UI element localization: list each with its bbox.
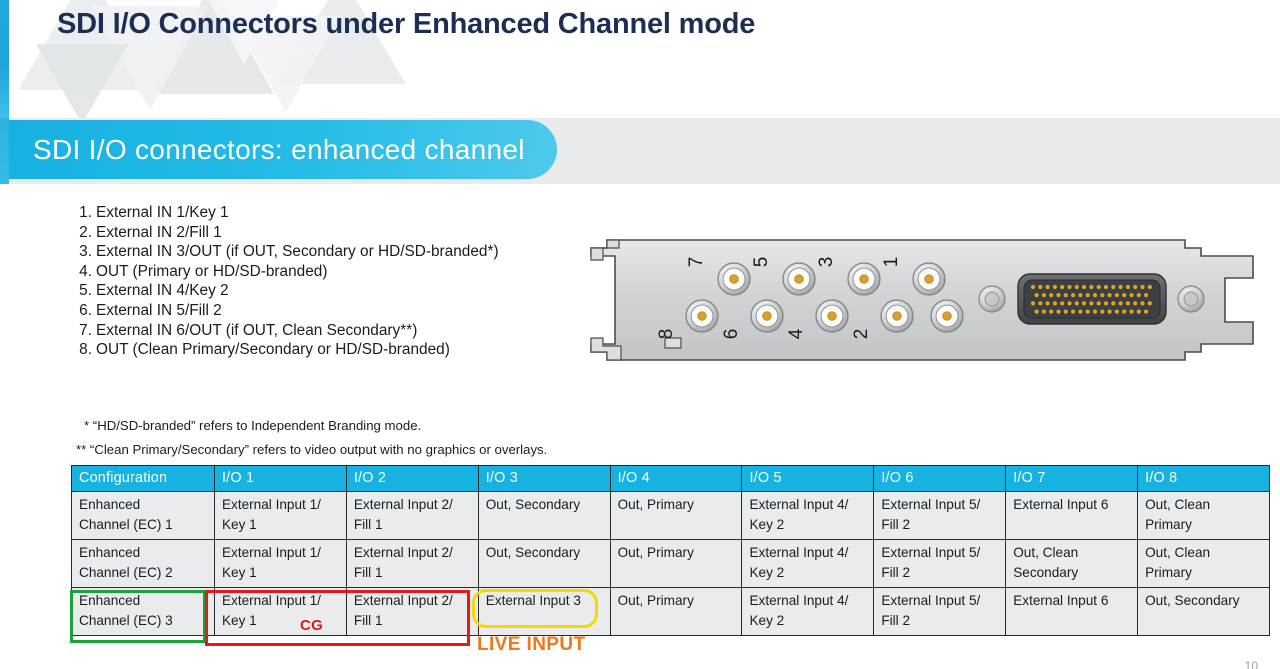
dsub-pin: [1056, 310, 1060, 314]
dsub-pin: [1133, 285, 1137, 289]
table-body: EnhancedChannel (EC) 1External Input 1/K…: [72, 492, 1270, 636]
bnc-connector-extra: [931, 300, 963, 332]
footnote-2: ** “Clean Primary/Secondary” refers to v…: [76, 438, 547, 462]
table-header-cell: I/O 1: [214, 466, 346, 492]
dsub-pin: [1078, 310, 1082, 314]
bnc-connector-6: [751, 300, 783, 332]
table-header-cell: I/O 6: [874, 466, 1006, 492]
cell-line: Enhanced: [79, 591, 207, 611]
dsub-pin: [1086, 310, 1090, 314]
cell-line: Fill 2: [881, 563, 998, 583]
table-header-cell: I/O 2: [346, 466, 478, 492]
dsub-pin: [1104, 301, 1108, 305]
cell-line: Fill 1: [354, 611, 471, 631]
table-cell: Out, CleanPrimary: [1138, 540, 1270, 588]
connector-list-text: External IN 3/OUT (if OUT, Secondary or …: [96, 243, 499, 260]
bnc-port-number-5: 5: [751, 257, 772, 268]
page-number: 10: [1245, 659, 1258, 669]
dsub-pin: [1097, 285, 1101, 289]
bnc-port-number-6: 6: [721, 329, 742, 340]
footnotes: * “HD/SD-branded” refers to Independent …: [76, 414, 547, 462]
cell-line: External Input 1/: [222, 591, 339, 611]
dsub-pin: [1089, 301, 1093, 305]
dsub-pin: [1137, 293, 1141, 297]
dsub-pin: [1148, 285, 1152, 289]
cell-line: Out, Clean: [1145, 495, 1262, 515]
connector-list-text: External IN 1/Key 1: [96, 204, 229, 221]
table-header-cell: I/O 5: [742, 466, 874, 492]
dsub-pin: [1075, 285, 1079, 289]
table-header-cell: I/O 4: [610, 466, 742, 492]
connector-list-item: 7.External IN 6/OUT (if OUT, Clean Secon…: [74, 321, 499, 341]
dsub-pin: [1046, 285, 1050, 289]
cell-line: External Input 6: [1013, 591, 1130, 611]
table-cell: Out, Primary: [610, 492, 742, 540]
dsub-pin: [1078, 293, 1082, 297]
cell-line: Secondary: [1013, 563, 1130, 583]
cell-line: Fill 2: [881, 515, 998, 535]
table-row: EnhancedChannel (EC) 3External Input 1/K…: [72, 588, 1270, 636]
dsub-pin: [1115, 293, 1119, 297]
page-title: SDI I/O Connectors under Enhanced Channe…: [57, 8, 755, 41]
table-cell: External Input 5/Fill 2: [874, 588, 1006, 636]
dsub-pin: [1067, 301, 1071, 305]
cell-line: Out, Secondary: [486, 543, 603, 563]
dsub-pin: [1119, 285, 1123, 289]
cell-line: External Input 5/: [881, 543, 998, 563]
connector-list-item: 1.External IN 1/Key 1: [74, 203, 499, 223]
dsub-pin: [1133, 301, 1137, 305]
dsub-pin: [1035, 310, 1039, 314]
table-cell: External Input 6: [1006, 492, 1138, 540]
dsub-pin: [1100, 293, 1104, 297]
cell-line: Channel (EC) 3: [79, 611, 207, 631]
dsub-pin: [1137, 310, 1141, 314]
dsub-pin: [1111, 301, 1115, 305]
dsub-pin: [1144, 310, 1148, 314]
dsub-pin: [1042, 293, 1046, 297]
section-banner: SDI I/O connectors: enhanced channel: [9, 120, 557, 179]
dsub-pin: [1067, 285, 1071, 289]
table-cell: External Input 2/Fill 1: [346, 588, 478, 636]
left-accent-bar: [0, 0, 9, 118]
table-cell: Out, Secondary: [478, 540, 610, 588]
connector-list-number: 3.: [74, 242, 92, 262]
bnc-connector-3: [848, 263, 880, 295]
dsub-pin: [1031, 285, 1035, 289]
table-header-cell: I/O 8: [1138, 466, 1270, 492]
table-cell-configuration: EnhancedChannel (EC) 1: [72, 492, 215, 540]
dsub-pin: [1104, 285, 1108, 289]
cell-line: Enhanced: [79, 543, 207, 563]
section-banner-label: SDI I/O connectors: enhanced channel: [33, 134, 525, 166]
table-cell: External Input 5/Fill 2: [874, 540, 1006, 588]
dsub-pin: [1075, 301, 1079, 305]
dsub-pin: [1119, 301, 1123, 305]
connector-list-number: 5.: [74, 281, 92, 301]
table-cell: External Input 4/Key 2: [742, 588, 874, 636]
connector-list-text: OUT (Primary or HD/SD-branded): [96, 263, 327, 280]
cell-line: Out, Primary: [618, 495, 735, 515]
connector-list-number: 7.: [74, 321, 92, 341]
table-cell: External Input 3: [478, 588, 610, 636]
cell-line: Out, Primary: [618, 591, 735, 611]
cell-line: Fill 1: [354, 515, 471, 535]
cell-line: External Input 5/: [881, 495, 998, 515]
bnc-port-number-3: 3: [816, 257, 837, 268]
dsub-pin: [1148, 301, 1152, 305]
cell-line: External Input 4/: [749, 543, 866, 563]
connector-list-item: 3.External IN 3/OUT (if OUT, Secondary o…: [74, 242, 499, 262]
bnc-port-number-7: 7: [686, 257, 707, 268]
cell-line: External Input 4/: [749, 495, 866, 515]
dsub-pin: [1053, 301, 1057, 305]
cell-line: Key 2: [749, 515, 866, 535]
table-cell: External Input 6: [1006, 588, 1138, 636]
cell-line: Key 1: [222, 611, 339, 631]
table-cell: Out, CleanSecondary: [1006, 540, 1138, 588]
table-cell: External Input 2/Fill 1: [346, 492, 478, 540]
triangle-shape: [36, 44, 128, 118]
dsub-pin: [1071, 293, 1075, 297]
table-cell: External Input 1/Key 1: [214, 540, 346, 588]
table-cell: Out, Secondary: [1138, 588, 1270, 636]
pci-bracket-card-illustration: 75318642: [585, 234, 1265, 366]
table-cell-configuration: EnhancedChannel (EC) 3: [72, 588, 215, 636]
table-row: EnhancedChannel (EC) 2External Input 1/K…: [72, 540, 1270, 588]
connector-list-text: External IN 6/OUT (if OUT, Clean Seconda…: [96, 322, 417, 339]
cell-line: Channel (EC) 2: [79, 563, 207, 583]
dsub-pin: [1089, 285, 1093, 289]
dsub-connector: [1018, 274, 1166, 324]
dsub-pin: [1082, 285, 1086, 289]
cell-line: External Input 5/: [881, 591, 998, 611]
connector-list-item: 4.OUT (Primary or HD/SD-branded): [74, 262, 499, 282]
dsub-pin: [1056, 293, 1060, 297]
bnc-connector-5: [783, 263, 815, 295]
table-cell: External Input 1/Key 1: [214, 588, 346, 636]
dsub-pin: [1122, 310, 1126, 314]
cell-line: External Input 6: [1013, 495, 1130, 515]
cell-line: External Input 1/: [222, 495, 339, 515]
connector-list-text: External IN 4/Key 2: [96, 282, 229, 299]
table-cell: External Input 4/Key 2: [742, 492, 874, 540]
dsub-pin: [1126, 301, 1130, 305]
dsub-pin: [1064, 310, 1068, 314]
dsub-pin: [1144, 293, 1148, 297]
bnc-connector-1: [913, 263, 945, 295]
cell-line: External Input 3: [486, 591, 603, 611]
table-cell: Out, CleanPrimary: [1138, 492, 1270, 540]
configuration-table: ConfigurationI/O 1I/O 2I/O 3I/O 4I/O 5I/…: [71, 465, 1270, 636]
dsub-pin: [1060, 285, 1064, 289]
cell-line: External Input 2/: [354, 543, 471, 563]
dsub-pin: [1140, 301, 1144, 305]
table-header-cell: I/O 7: [1006, 466, 1138, 492]
cell-line: Fill 1: [354, 563, 471, 583]
table-cell-configuration: EnhancedChannel (EC) 2: [72, 540, 215, 588]
cell-line: Enhanced: [79, 495, 207, 515]
dsub-pin: [1042, 310, 1046, 314]
bnc-connector-2: [881, 300, 913, 332]
dsub-pin: [1031, 301, 1035, 305]
footnote-1: * “HD/SD-branded” refers to Independent …: [76, 414, 547, 438]
cell-line: Out, Clean: [1013, 543, 1130, 563]
connector-list-item: 6.External IN 5/Fill 2: [74, 301, 499, 321]
cell-line: Fill 2: [881, 611, 998, 631]
table-cell: Out, Secondary: [478, 492, 610, 540]
dsub-pin: [1126, 285, 1130, 289]
bnc-connector-7: [718, 263, 750, 295]
bnc-port-number-8: 8: [656, 329, 677, 340]
table-cell: Out, Primary: [610, 588, 742, 636]
cell-line: Primary: [1145, 563, 1262, 583]
cell-line: Out, Primary: [618, 543, 735, 563]
cell-line: Key 2: [749, 563, 866, 583]
table-cell: External Input 2/Fill 1: [346, 540, 478, 588]
connector-list: 1.External IN 1/Key 12.External IN 2/Fil…: [74, 203, 499, 360]
dsub-pin: [1140, 285, 1144, 289]
dsub-pin: [1115, 310, 1119, 314]
dsub-pin: [1111, 285, 1115, 289]
bnc-connector-4: [816, 300, 848, 332]
dsub-screw-left: [979, 286, 1005, 312]
table-cell: External Input 4/Key 2: [742, 540, 874, 588]
cell-line: Key 2: [749, 611, 866, 631]
dsub-pin: [1097, 301, 1101, 305]
dsub-pin: [1129, 293, 1133, 297]
dsub-screw-right: [1178, 286, 1204, 312]
table-header-cell: Configuration: [72, 466, 215, 492]
table-cell: External Input 5/Fill 2: [874, 492, 1006, 540]
dsub-pin: [1093, 310, 1097, 314]
slide-page: SDI I/O Connectors under Enhanced Channe…: [0, 0, 1280, 669]
connector-list-item: 8.OUT (Clean Primary/Secondary or HD/SD-…: [74, 340, 499, 360]
table-row: EnhancedChannel (EC) 1External Input 1/K…: [72, 492, 1270, 540]
connector-list-text: OUT (Clean Primary/Secondary or HD/SD-br…: [96, 341, 450, 358]
dsub-pin: [1071, 310, 1075, 314]
dsub-pin: [1053, 285, 1057, 289]
dsub-pin: [1064, 293, 1068, 297]
dsub-pin: [1086, 293, 1090, 297]
connector-list-number: 6.: [74, 301, 92, 321]
cell-line: External Input 4/: [749, 591, 866, 611]
cell-line: Key 1: [222, 563, 339, 583]
cell-line: Out, Clean: [1145, 543, 1262, 563]
bnc-port-number-2: 2: [851, 329, 872, 340]
dsub-pin: [1049, 310, 1053, 314]
dsub-pin: [1038, 301, 1042, 305]
cell-line: External Input 2/: [354, 495, 471, 515]
connector-list-number: 1.: [74, 203, 92, 223]
dsub-pin: [1122, 293, 1126, 297]
dsub-pin: [1093, 293, 1097, 297]
connector-list-item: 5.External IN 4/Key 2: [74, 281, 499, 301]
bnc-port-number-1: 1: [881, 257, 902, 268]
dsub-pin: [1108, 293, 1112, 297]
cell-line: Primary: [1145, 515, 1262, 535]
bnc-connector-8: [686, 300, 718, 332]
cell-line: Out, Secondary: [486, 495, 603, 515]
connector-list-item: 2.External IN 2/Fill 1: [74, 223, 499, 243]
dsub-pin: [1082, 301, 1086, 305]
cell-line: Channel (EC) 1: [79, 515, 207, 535]
left-accent-bar-lower: [0, 118, 9, 184]
table-header-cell: I/O 3: [478, 466, 610, 492]
connector-list-text: External IN 5/Fill 2: [96, 302, 222, 319]
dsub-pin: [1060, 301, 1064, 305]
connector-list-number: 4.: [74, 262, 92, 282]
connector-list-number: 8.: [74, 340, 92, 360]
bnc-port-number-4: 4: [786, 328, 807, 339]
dsub-pin: [1038, 285, 1042, 289]
dsub-pin: [1046, 301, 1050, 305]
cell-line: External Input 1/: [222, 543, 339, 563]
table-header-row: ConfigurationI/O 1I/O 2I/O 3I/O 4I/O 5I/…: [72, 466, 1270, 492]
dsub-pin: [1035, 293, 1039, 297]
dsub-pin: [1049, 293, 1053, 297]
cell-line: External Input 2/: [354, 591, 471, 611]
dsub-pin: [1129, 310, 1133, 314]
table-cell: External Input 1/Key 1: [214, 492, 346, 540]
card-svg: 75318642: [585, 234, 1265, 366]
dsub-pin: [1100, 310, 1104, 314]
cell-line: Out, Secondary: [1145, 591, 1262, 611]
connector-list-text: External IN 2/Fill 1: [96, 224, 222, 241]
connector-list-number: 2.: [74, 223, 92, 243]
cell-line: Key 1: [222, 515, 339, 535]
table-cell: Out, Primary: [610, 540, 742, 588]
dsub-pin: [1108, 310, 1112, 314]
